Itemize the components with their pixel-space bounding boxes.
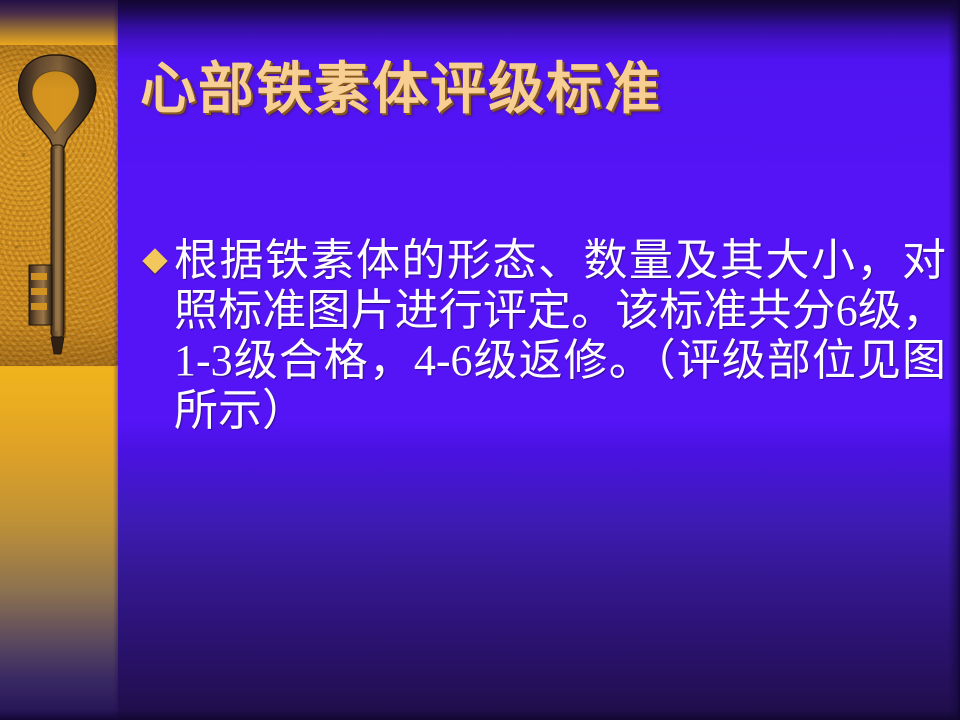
background-top-shading	[0, 0, 960, 60]
diamond-bullet-icon	[142, 248, 167, 273]
bullet-item-text: 根据铁素体的形态、数量及其大小，对照标准图片进行评定。该标准共分6级，1-3级合…	[174, 236, 946, 437]
slide-title: 心部铁素体评级标准	[140, 58, 930, 122]
sidebar-inner-edge	[113, 0, 118, 720]
bullet-list: 根据铁素体的形态、数量及其大小，对照标准图片进行评定。该标准共分6级，1-3级合…	[146, 236, 946, 437]
background-right-edge	[948, 0, 960, 720]
key-icon	[0, 45, 118, 366]
presentation-slide: 心部铁素体评级标准 根据铁素体的形态、数量及其大小，对照标准图片进行评定。该标准…	[0, 0, 960, 720]
background-bottom-edge	[0, 710, 960, 720]
key-photo-image	[0, 45, 118, 366]
sidebar-decoration-band	[0, 0, 118, 720]
